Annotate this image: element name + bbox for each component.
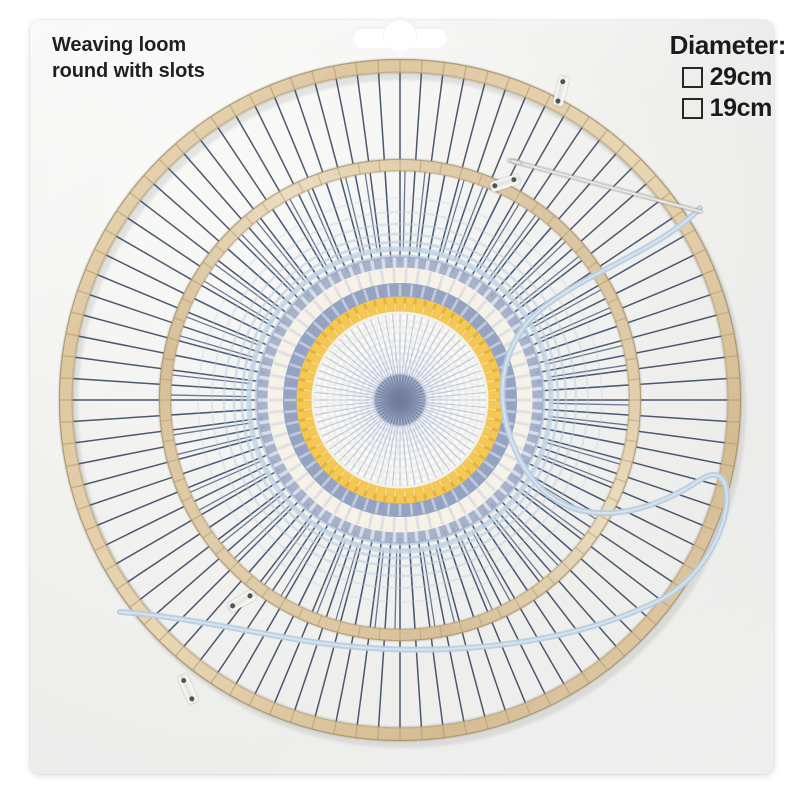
diameter-option-19cm[interactable]: 19cm bbox=[670, 94, 786, 123]
checkbox-29cm[interactable] bbox=[682, 67, 703, 88]
diameter-label: Diameter: bbox=[670, 30, 786, 61]
product-photo-stage: Weaving loom round with slots Diameter: … bbox=[0, 0, 800, 800]
diameter-selector: Diameter: 29cm 19cm bbox=[670, 30, 786, 123]
checkbox-19cm[interactable] bbox=[682, 98, 703, 119]
diameter-option-29cm[interactable]: 29cm bbox=[670, 63, 786, 92]
diameter-option-29cm-label: 29cm bbox=[710, 63, 772, 92]
woven-medallion bbox=[248, 248, 552, 552]
product-title: Weaving loom round with slots bbox=[52, 33, 342, 84]
product-title-line-1: Weaving loom bbox=[52, 33, 342, 59]
product-title-line-2: round with slots bbox=[52, 59, 342, 85]
diameter-option-19cm-label: 19cm bbox=[710, 94, 772, 123]
